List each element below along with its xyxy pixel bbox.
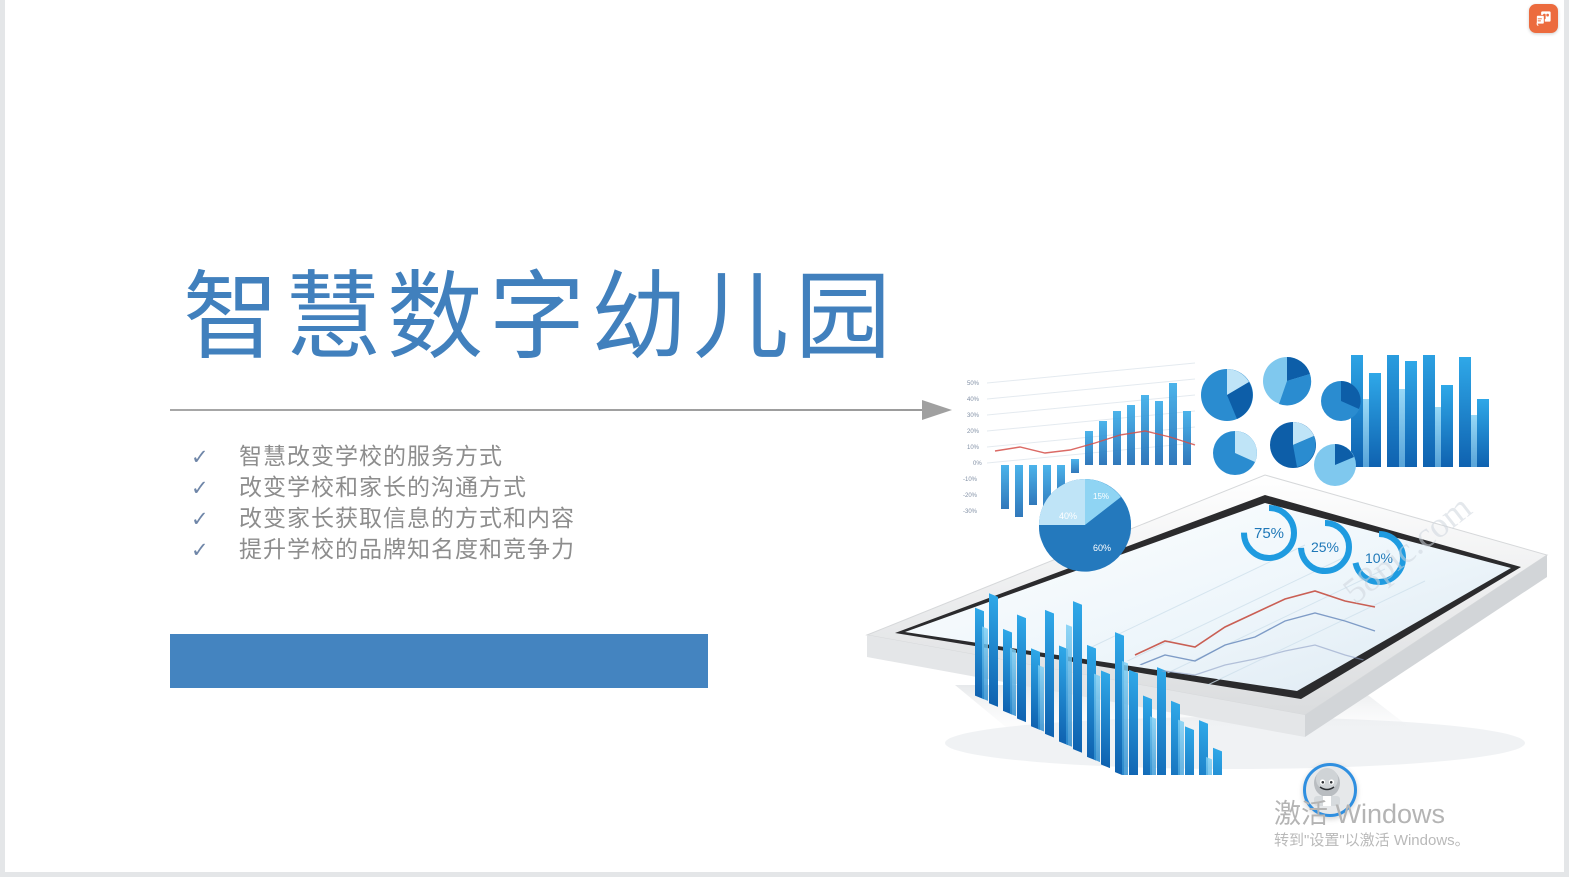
list-item: ✓ 改变家长获取信息的方式和内容 <box>183 504 823 535</box>
list-item-label: 提升学校的品牌知名度和竞争力 <box>239 535 575 566</box>
list-item: ✓ 提升学校的品牌知名度和竞争力 <box>183 535 823 566</box>
svg-text:-20%: -20% <box>963 493 978 499</box>
svg-text:0%: 0% <box>973 461 982 467</box>
svg-text:-30%: -30% <box>963 509 978 515</box>
svg-text:40%: 40% <box>967 397 980 403</box>
svg-text:-10%: -10% <box>963 477 978 483</box>
presentation-convert-icon[interactable] <box>1529 4 1558 33</box>
list-item: ✓ 智慧改变学校的服务方式 <box>183 442 823 473</box>
svg-text:15%: 15% <box>1093 492 1109 501</box>
check-icon: ✓ <box>183 535 239 566</box>
list-item-label: 智慧改变学校的服务方式 <box>239 442 503 473</box>
svg-text:30%: 30% <box>967 413 980 419</box>
activation-heading: 激活 Windows <box>1274 798 1506 830</box>
svg-text:10%: 10% <box>967 445 980 451</box>
check-icon: ✓ <box>183 504 239 535</box>
windows-activation-watermark: 激活 Windows 转到"设置"以激活 Windows。 <box>1274 798 1506 852</box>
divider-line <box>170 409 925 411</box>
svg-text:20%: 20% <box>967 429 980 435</box>
list-item: ✓ 改变学校和家长的沟通方式 <box>183 473 823 504</box>
svg-text:50%: 50% <box>967 381 980 387</box>
list-item-label: 改变学校和家长的沟通方式 <box>239 473 527 504</box>
slide-viewport: 智慧数字幼儿园 ✓ 智慧改变学校的服务方式 ✓ 改变学校和家长的沟通方式 ✓ 改… <box>0 0 1569 877</box>
check-icon: ✓ <box>183 442 239 473</box>
tablet-charts-illustration: 50%40% 30%20% 10%0% -10%-20% -30% <box>835 355 1564 775</box>
slide-canvas[interactable]: 智慧数字幼儿园 ✓ 智慧改变学校的服务方式 ✓ 改变学校和家长的沟通方式 ✓ 改… <box>5 0 1564 872</box>
bullet-list: ✓ 智慧改变学校的服务方式 ✓ 改变学校和家长的沟通方式 ✓ 改变家长获取信息的… <box>183 442 823 566</box>
svg-text:60%: 60% <box>1093 543 1111 553</box>
page-title: 智慧数字幼儿园 <box>183 262 897 374</box>
check-icon: ✓ <box>183 473 239 504</box>
svg-text:75%: 75% <box>1254 525 1284 542</box>
svg-text:40%: 40% <box>1059 511 1077 521</box>
activation-subtext: 转到"设置"以激活 Windows。 <box>1274 830 1506 852</box>
accent-block <box>170 634 708 688</box>
svg-text:25%: 25% <box>1311 539 1339 555</box>
list-item-label: 改变家长获取信息的方式和内容 <box>239 504 575 535</box>
